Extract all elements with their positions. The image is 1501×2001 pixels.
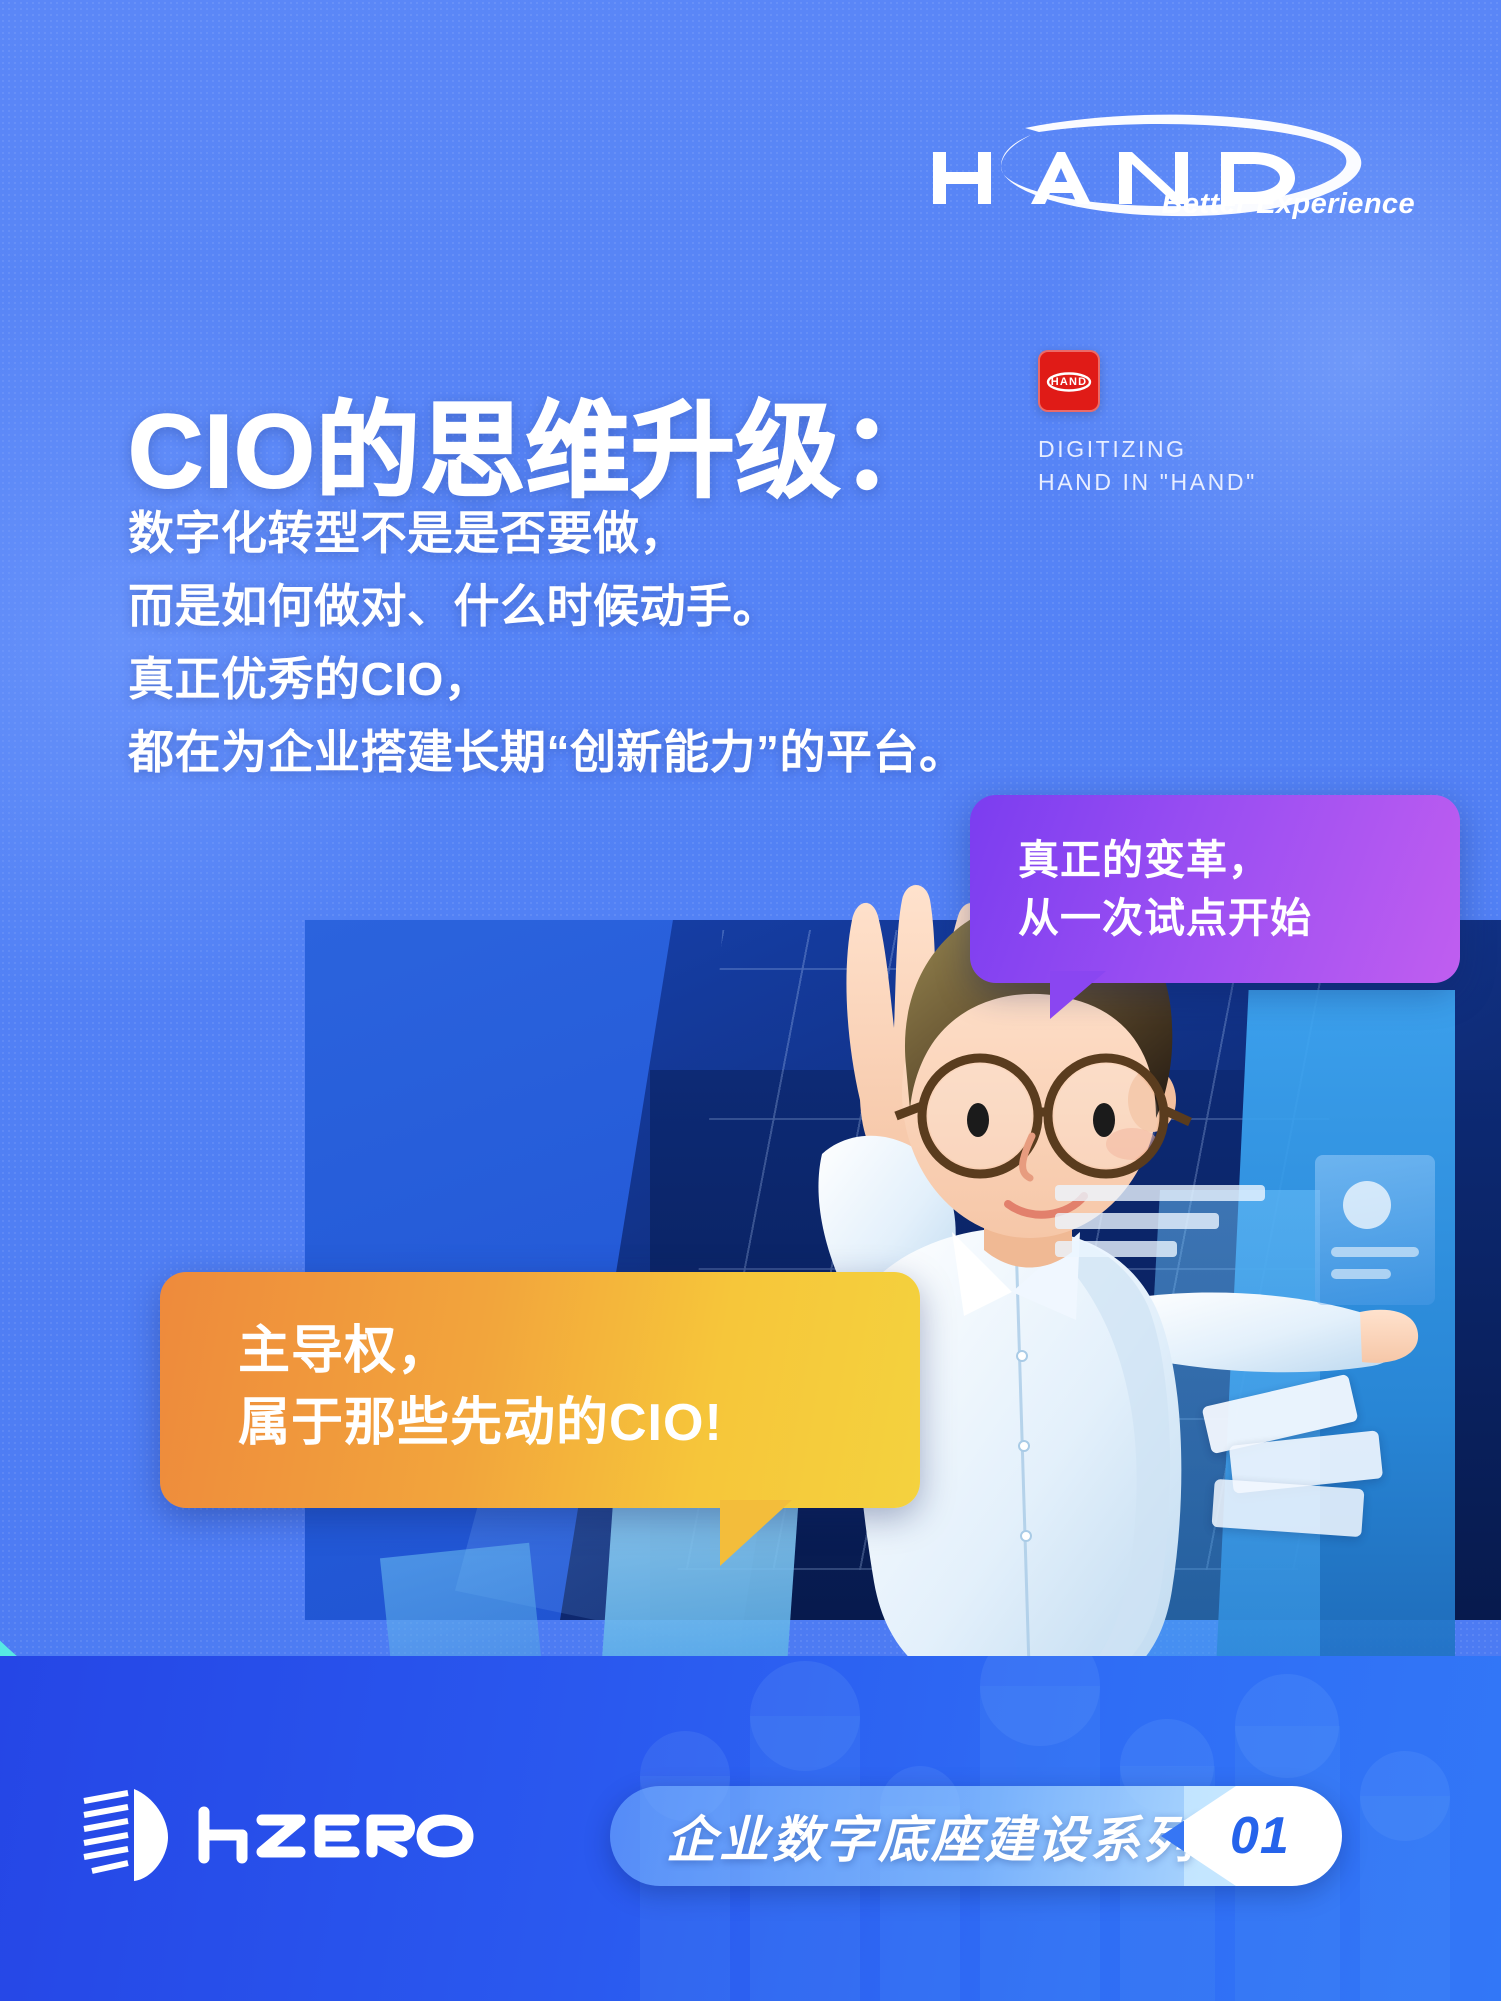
hand-red-mark-icon: HAND HAND [1038,350,1100,412]
poster-canvas: Better Experience HAND CIO的思维升级： HAND HA… [0,0,1501,2001]
body-copy-line-3: 真正优秀的CIO， [128,651,966,708]
speech-bubble-purple: 真正的变革， 从一次试点开始 [970,795,1460,983]
digitizing-line2: HAND IN "HAND" [1038,469,1288,496]
orange-bubble-line2: 属于那些先动的CIO! [238,1388,874,1460]
digitizing-line1: DIGITIZING [1038,436,1288,463]
dashboard-rows [1055,1185,1265,1295]
speech-bubble-orange: 主导权， 属于那些先动的CIO! [160,1272,920,1508]
series-label: 企业数字底座建设系列 [610,1786,1236,1886]
footer: HZERO 企业数字底座建设系列 01 [0,1656,1501,2001]
hand-tagline: Better Experience [1162,188,1415,221]
orange-bubble-line1: 主导权， [238,1316,874,1388]
body-copy-line-2: 而是如何做对、什么时候动手。 [128,578,966,635]
hzero-mark-icon [78,1787,170,1883]
body-copy-line-4: 都在为企业搭建长期“创新能力”的平台。 [128,724,966,781]
hand-logo: Better Experience HAND [905,110,1425,220]
orange-bubble-tail [720,1500,792,1566]
digitizing-badge: HAND HAND DIGITIZING HAND IN "HAND" [1038,350,1288,496]
page-title: CIO的思维升级： [128,400,946,504]
svg-text:HAND: HAND [1051,376,1088,388]
series-badge: 企业数字底座建设系列 01 [610,1786,1342,1886]
purple-bubble-line1: 真正的变革， [1018,831,1420,889]
hzero-wordmark [196,1806,486,1864]
avatar [1343,1181,1391,1229]
purple-bubble-line2: 从一次试点开始 [1018,889,1420,947]
body-copy-line-1: 数字化转型不是是否要做， [128,505,966,562]
brand-lockup: HZERO [78,1787,486,1883]
body-copy: 数字化转型不是是否要做， 而是如何做对、什么时候动手。 真正优秀的CIO， 都在… [128,505,966,797]
user-card-widget [1315,1155,1435,1305]
purple-bubble-tail [1050,971,1106,1019]
